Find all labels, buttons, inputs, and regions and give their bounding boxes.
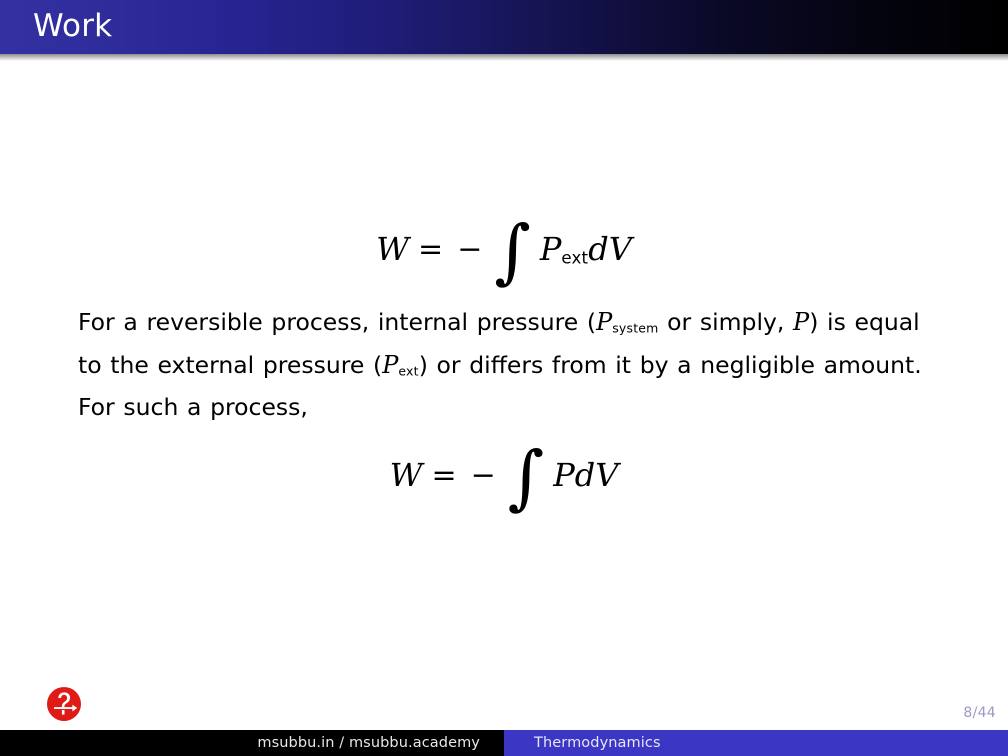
msubbu-logo-icon[interactable] xyxy=(46,686,82,722)
equation1-equals-sign: = xyxy=(409,232,452,267)
equation2-equals-sign: = xyxy=(423,458,466,493)
equation1-integral-sign: ∫ xyxy=(486,226,534,276)
p-subscript-ext: ext xyxy=(398,363,418,378)
paragraph-segment-2: or simply, xyxy=(659,308,794,336)
equation2-minus-sign: − xyxy=(466,458,500,493)
equation1-minus-sign: − xyxy=(452,232,486,267)
page-number: 8/44 xyxy=(963,705,996,721)
page-title: Work xyxy=(33,6,112,46)
paragraph-variable-p: P xyxy=(793,308,809,336)
footer-subject-text: Thermodynamics xyxy=(534,735,661,751)
slide-header-bar: Work xyxy=(0,0,1008,54)
body-paragraph: For a reversible process, internal press… xyxy=(78,304,923,426)
paragraph-segment-1: For a reversible process, internal press… xyxy=(78,308,596,336)
equation2-integrand: PdV xyxy=(548,456,618,494)
equation1-differential: dV xyxy=(588,230,632,268)
slide-footer-bar: msubbu.in / msubbu.academy Thermodynamic… xyxy=(0,730,1008,756)
equation1-integrand: PextdV xyxy=(535,230,632,268)
equation2-differential: dV xyxy=(575,456,619,494)
paragraph-variable-p-system: Psystem xyxy=(596,308,658,336)
equation2-lhs-variable: W xyxy=(390,456,423,494)
equation-work-external-pressure: W = − ∫ PextdV xyxy=(0,224,1008,274)
p-subscript-system: system xyxy=(612,321,658,336)
paragraph-variable-p-ext: Pext xyxy=(382,351,418,379)
equation2-pressure-symbol: P xyxy=(553,456,575,494)
equation1-pressure-subscript: ext xyxy=(561,249,588,268)
footer-author-section: msubbu.in / msubbu.academy xyxy=(0,730,504,756)
p-symbol-1: P xyxy=(596,308,612,336)
footer-author-text: msubbu.in / msubbu.academy xyxy=(257,735,480,751)
footer-subject-section: Thermodynamics xyxy=(504,730,1008,756)
equation-work-reversible: W = − ∫ PdV xyxy=(0,450,1008,500)
equation2-integral-sign: ∫ xyxy=(500,452,548,502)
equation1-pressure-symbol: P xyxy=(540,230,562,268)
header-shadow-divider xyxy=(0,54,1008,61)
slide-content-area: W = − ∫ PextdV For a reversible process,… xyxy=(0,61,1008,701)
p-symbol-3: P xyxy=(382,351,398,379)
equation1-lhs-variable: W xyxy=(376,230,409,268)
